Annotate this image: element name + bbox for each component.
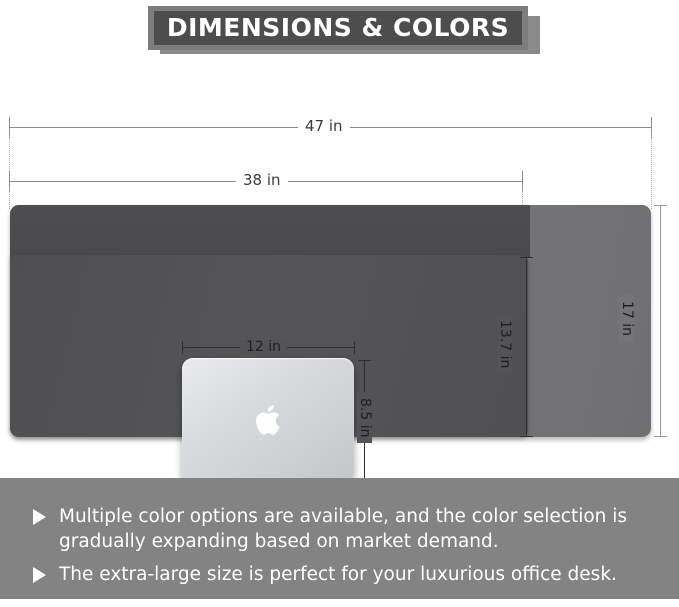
dimension-tick-bottom-body-height (520, 436, 533, 437)
title-banner: DIMENSIONS & COLORS (148, 6, 540, 54)
title-banner-frame: DIMENSIONS & COLORS (148, 6, 528, 50)
feature-item-2: The extra-large size is perfect for your… (33, 562, 648, 587)
dimension-label-overall-width: 47 in (298, 118, 350, 135)
dimension-line-body-height (526, 257, 527, 437)
dimension-label-laptop-height: 8.5 in (357, 392, 372, 443)
page-title: DIMENSIONS & COLORS (154, 11, 522, 45)
triangle-right-icon (33, 567, 46, 583)
feature-list-bar: Multiple color options are available, an… (0, 478, 679, 599)
desk-mat-inner-panel: 12 in 8.5 in 13.7 in (10, 255, 528, 437)
desk-mat-top-strip (10, 205, 530, 257)
feature-text-2: The extra-large size is perfect for your… (59, 562, 617, 587)
dimension-tick-top-laptop-height (358, 360, 371, 361)
triangle-right-icon (33, 509, 46, 525)
dimension-label-laptop-width: 12 in (240, 340, 287, 355)
laptop-illustration (182, 358, 354, 482)
dimension-tick-bottom-overall-height (654, 436, 667, 437)
dimension-tick-right-laptop-width (354, 341, 355, 354)
title-banner-panel: DIMENSIONS & COLORS (154, 11, 522, 45)
dimension-tick-left-laptop-width (182, 341, 183, 354)
dimension-label-body-height: 13.7 in (497, 314, 512, 374)
dimension-line-overall-height (660, 205, 661, 437)
product-illustration: 12 in 8.5 in 13.7 in 17 in (0, 195, 679, 450)
feature-item-1: Multiple color options are available, an… (33, 504, 648, 554)
apple-logo-icon (255, 405, 281, 435)
dimension-label-overall-height: 17 in (619, 295, 634, 342)
dimension-tick-top-body-height (520, 257, 533, 258)
dimension-label-body-width: 38 in (236, 172, 288, 189)
feature-text-1: Multiple color options are available, an… (59, 504, 648, 554)
dimension-tick-top-overall-height (654, 205, 667, 206)
